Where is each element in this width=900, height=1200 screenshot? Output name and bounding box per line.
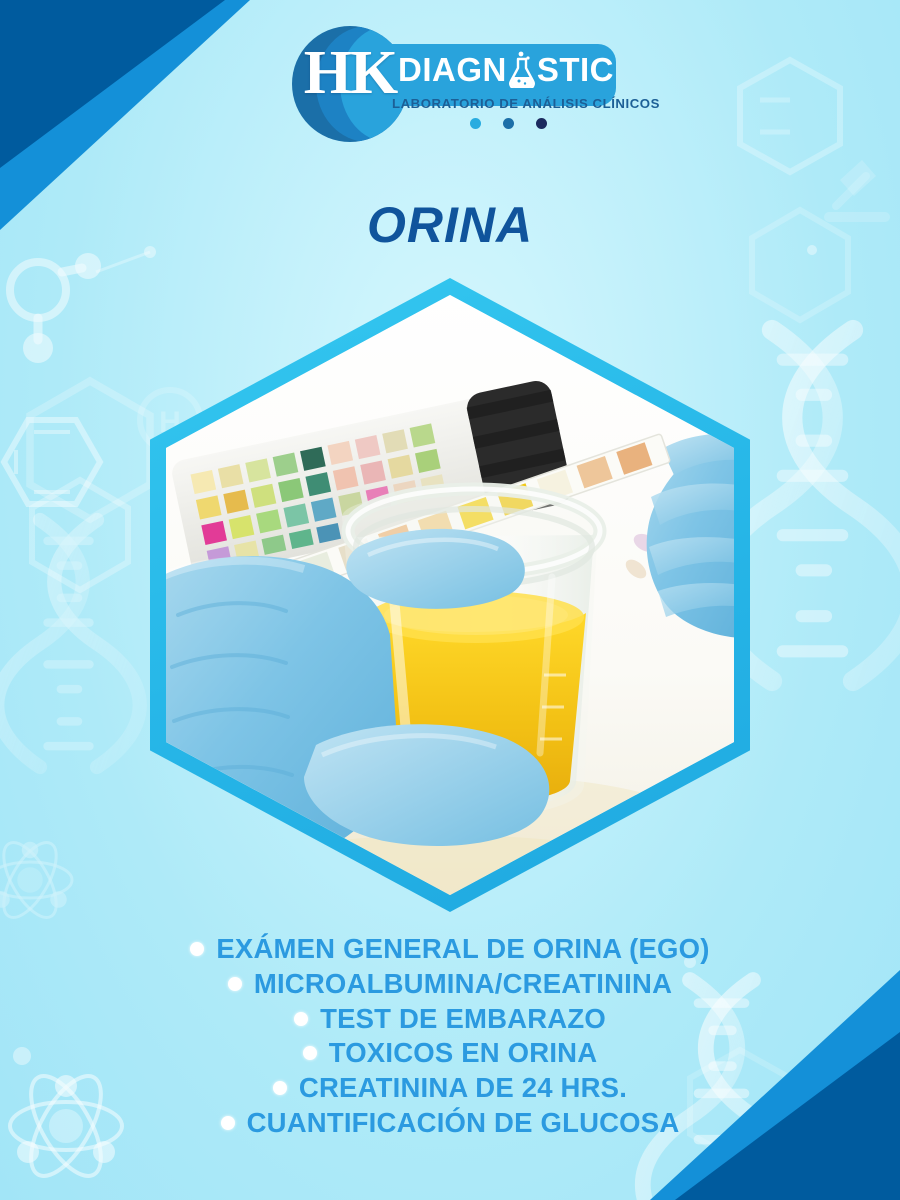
brand-logo: HK DIAGN STIC LABORATORIO DE ANÁLISIS CL… [0, 22, 900, 142]
atom-icon-left-mid [0, 835, 72, 926]
bullet-icon [228, 977, 242, 991]
page-title: ORINA [0, 196, 900, 254]
logo-dot-light [470, 118, 481, 129]
logo-dot-row [392, 118, 624, 129]
lab-flask-icon [507, 50, 537, 88]
hex-watermark-left [32, 480, 128, 590]
logo-wordmark: DIAGN STIC [398, 48, 618, 90]
bullet-icon [303, 1046, 317, 1060]
list-item: MICROALBUMINA/CREATININA [228, 967, 672, 1001]
hero-image-hexagon [150, 278, 750, 912]
list-item: CUANTIFICACIÓN DE GLUCOSA [221, 1106, 680, 1140]
logo-dot-medium [503, 118, 514, 129]
service-label: MICROALBUMINA/CREATININA [254, 967, 672, 1001]
logo-monogram: HK [300, 42, 400, 104]
service-label: CUANTIFICACIÓN DE GLUCOSA [247, 1106, 680, 1140]
service-label: TEST DE EMBARAZO [320, 1002, 606, 1036]
services-list: EXÁMEN GENERAL DE ORINA (EGO) MICROALBUM… [0, 932, 900, 1141]
list-item: EXÁMEN GENERAL DE ORINA (EGO) [190, 932, 709, 966]
bullet-icon [190, 942, 204, 956]
list-item: TEST DE EMBARAZO [294, 1002, 606, 1036]
service-label: EXÁMEN GENERAL DE ORINA (EGO) [216, 932, 709, 966]
bullet-icon [221, 1116, 235, 1130]
molecule-icon-topleft [10, 253, 101, 363]
logo-word-after: STIC [537, 53, 614, 86]
urine-sample-photo [166, 295, 734, 895]
service-label: CREATININA DE 24 HRS. [299, 1071, 627, 1105]
benzene-ring-left [4, 420, 100, 504]
list-item: CREATININA DE 24 HRS. [273, 1071, 627, 1105]
bullet-icon [273, 1081, 287, 1095]
hexagon-photo-clip [166, 295, 734, 895]
logo-dot-dark [536, 118, 547, 129]
poster-canvas: H [0, 0, 900, 1200]
logo-word-before: DIAGN [398, 53, 507, 86]
dna-helix-left-upper [0, 520, 140, 767]
logo-tagline: LABORATORIO DE ANÁLISIS CLÍNICOS [392, 96, 624, 111]
list-item: TOXICOS EN ORINA [303, 1036, 598, 1070]
bullet-icon [294, 1012, 308, 1026]
service-label: TOXICOS EN ORINA [329, 1036, 598, 1070]
